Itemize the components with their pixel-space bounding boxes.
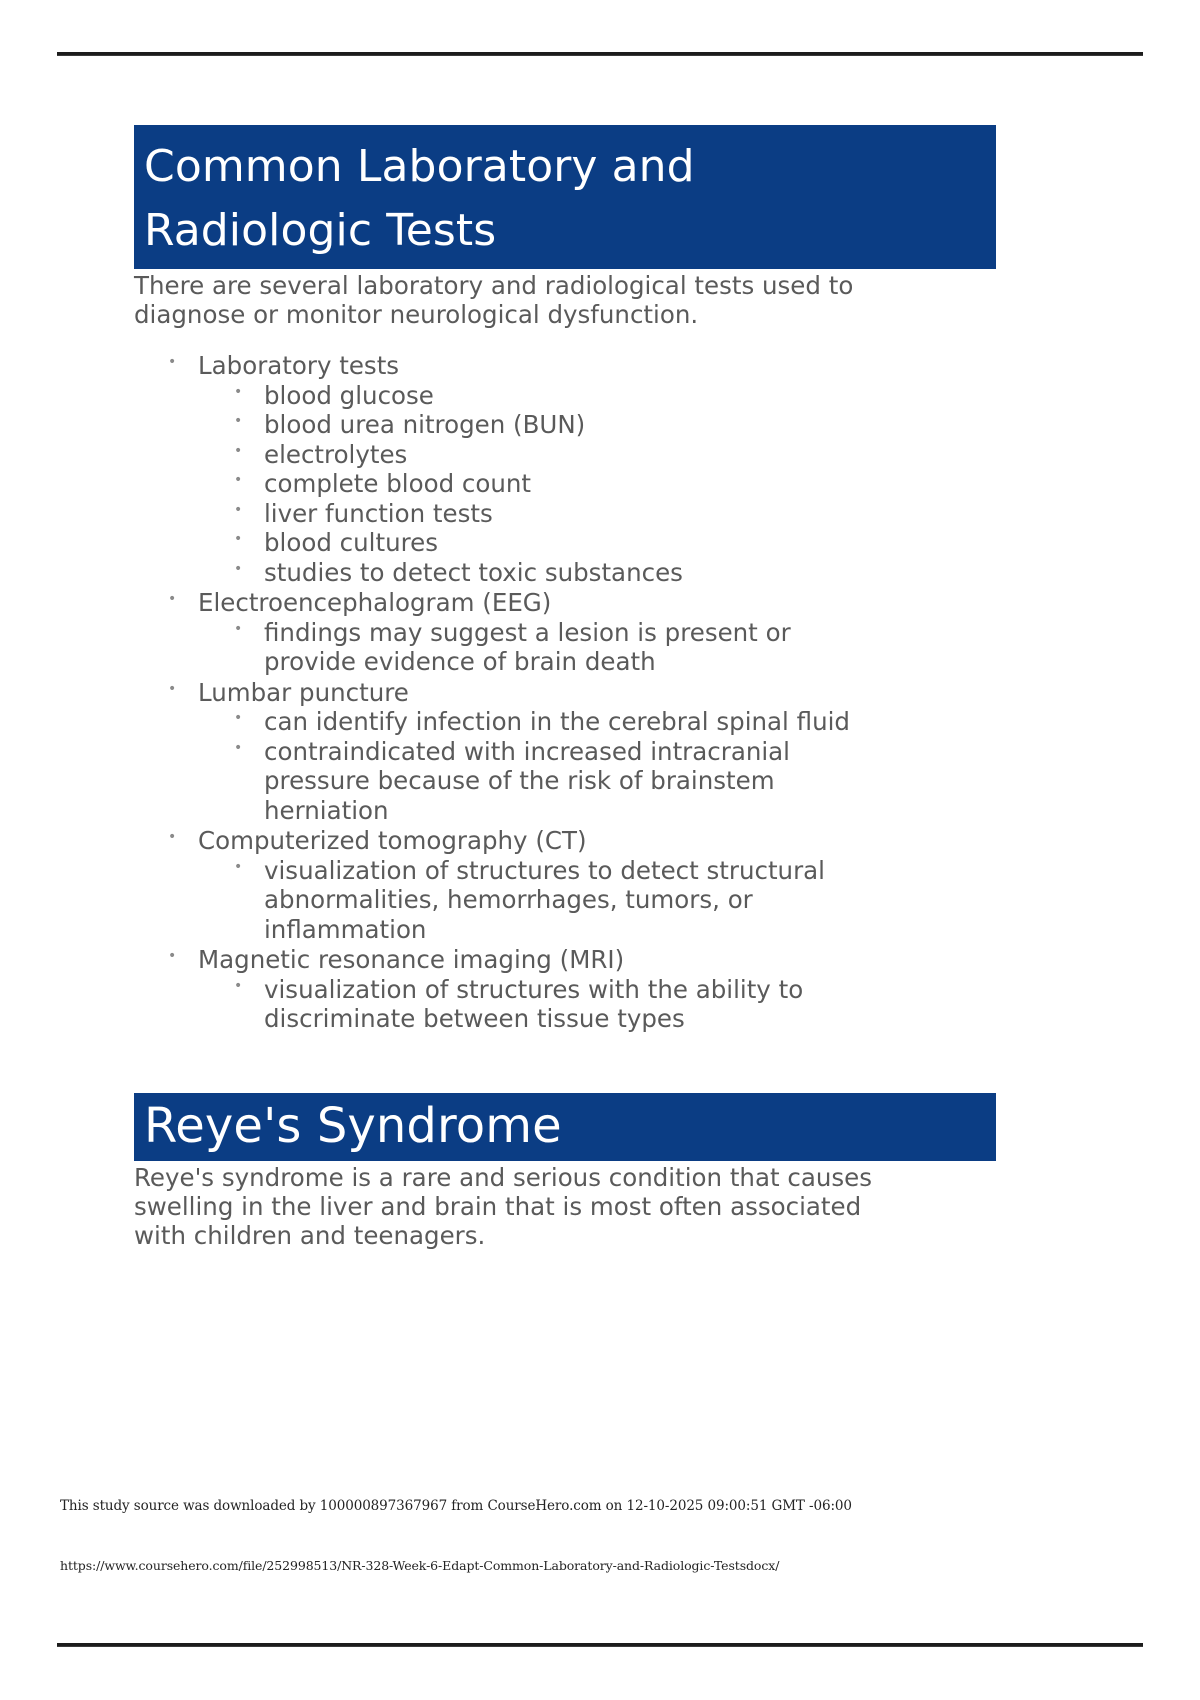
heading-line-2: Radiologic Tests	[144, 199, 996, 263]
list-item: complete blood count	[198, 469, 1000, 499]
heading-line-1: Reye's Syndrome	[144, 1098, 562, 1154]
sub-bullet-text: liver function tests	[264, 499, 1000, 529]
page-top-rule	[57, 52, 1143, 56]
sub-bullet-text: electrolytes	[264, 440, 1000, 470]
sub-list-laboratory-tests: blood glucose blood urea nitrogen (BUN) …	[198, 381, 1000, 588]
document-page: Common Laboratory and Radiologic Tests T…	[0, 0, 1200, 1700]
sub-bullet-text: visualization of structures with the abi…	[264, 975, 1000, 1005]
sub-list-lumbar-puncture: can identify infection in the cerebral s…	[198, 707, 1000, 825]
sub-bullet-text: studies to detect toxic substances	[264, 558, 1000, 588]
section-intro-paragraph-reyes: Reye's syndrome is a rare and serious co…	[134, 1163, 974, 1250]
sub-bullet-text: visualization of structures to detect st…	[264, 856, 1000, 886]
sub-bullet-text-cont: herniation	[264, 796, 1000, 826]
list-item: blood urea nitrogen (BUN)	[198, 410, 1000, 440]
sub-list-magnetic-resonance-imaging: visualization of structures with the abi…	[198, 975, 1000, 1034]
intro-line-3: with children and teenagers.	[134, 1221, 974, 1250]
sub-bullet-text-cont: pressure because of the risk of brainste…	[264, 766, 1000, 796]
list-item: studies to detect toxic substances	[198, 558, 1000, 588]
list-item: findings may suggest a lesion is present…	[198, 618, 1000, 677]
list-item: can identify infection in the cerebral s…	[198, 707, 1000, 737]
section-heading-reyes-syndrome: Reye's Syndrome	[134, 1093, 996, 1161]
section-heading-common-laboratory-and-radiologic-tests: Common Laboratory and Radiologic Tests	[134, 125, 996, 269]
intro-line-1: There are several laboratory and radiolo…	[134, 271, 974, 300]
sub-bullet-text: blood glucose	[264, 381, 1000, 411]
bullet-label-laboratory-tests: Laboratory tests	[198, 351, 1000, 381]
sub-list-electroencephalogram: findings may suggest a lesion is present…	[198, 618, 1000, 677]
bullet-label-computerized-tomography: Computerized tomography (CT)	[198, 826, 1000, 856]
bullet-label-electroencephalogram: Electroencephalogram (EEG)	[198, 588, 1000, 618]
bullet-label-magnetic-resonance-imaging: Magnetic resonance imaging (MRI)	[198, 945, 1000, 975]
list-item: electrolytes	[198, 440, 1000, 470]
list-item: blood glucose	[198, 381, 1000, 411]
document-content: Common Laboratory and Radiologic Tests T…	[134, 125, 1000, 1250]
sub-bullet-text: complete blood count	[264, 469, 1000, 499]
footer-download-notice: This study source was downloaded by 1000…	[60, 1498, 1140, 1514]
sub-bullet-text-cont: provide evidence of brain death	[264, 647, 1000, 677]
bullet-label-lumbar-puncture: Lumbar puncture	[198, 678, 1000, 708]
section-intro-paragraph: There are several laboratory and radiolo…	[134, 271, 974, 329]
list-item: blood cultures	[198, 528, 1000, 558]
sub-bullet-text-cont: inflammation	[264, 915, 1000, 945]
sub-bullet-text: blood urea nitrogen (BUN)	[264, 410, 1000, 440]
intro-line-2: diagnose or monitor neurological dysfunc…	[134, 300, 974, 329]
tests-bullet-list: Laboratory tests blood glucose blood ure…	[134, 351, 1000, 1034]
page-bottom-rule	[57, 1643, 1143, 1647]
section-spacer	[134, 1035, 1000, 1093]
sub-bullet-text: blood cultures	[264, 528, 1000, 558]
list-item: Lumbar puncture can identify infection i…	[160, 678, 1000, 826]
intro-line-2: swelling in the liver and brain that is …	[134, 1192, 974, 1221]
sub-bullet-text: findings may suggest a lesion is present…	[264, 618, 1000, 648]
list-item: contraindicated with increased intracran…	[198, 737, 1000, 826]
sub-bullet-text-cont: abnormalities, hemorrhages, tumors, or	[264, 885, 1000, 915]
intro-line-1: Reye's syndrome is a rare and serious co…	[134, 1163, 974, 1192]
list-item: Electroencephalogram (EEG) findings may …	[160, 588, 1000, 677]
list-item: visualization of structures with the abi…	[198, 975, 1000, 1034]
list-item: Magnetic resonance imaging (MRI) visuali…	[160, 945, 1000, 1034]
list-item: Computerized tomography (CT) visualizati…	[160, 826, 1000, 944]
heading-line-1: Common Laboratory and	[144, 135, 996, 199]
sub-bullet-text: contraindicated with increased intracran…	[264, 737, 1000, 767]
list-item: liver function tests	[198, 499, 1000, 529]
list-item: Laboratory tests blood glucose blood ure…	[160, 351, 1000, 587]
sub-bullet-text-cont: discriminate between tissue types	[264, 1004, 1000, 1034]
footer-source-url[interactable]: https://www.coursehero.com/file/25299851…	[60, 1558, 1140, 1573]
sub-list-computerized-tomography: visualization of structures to detect st…	[198, 856, 1000, 945]
sub-bullet-text: can identify infection in the cerebral s…	[264, 707, 1000, 737]
list-item: visualization of structures to detect st…	[198, 856, 1000, 945]
